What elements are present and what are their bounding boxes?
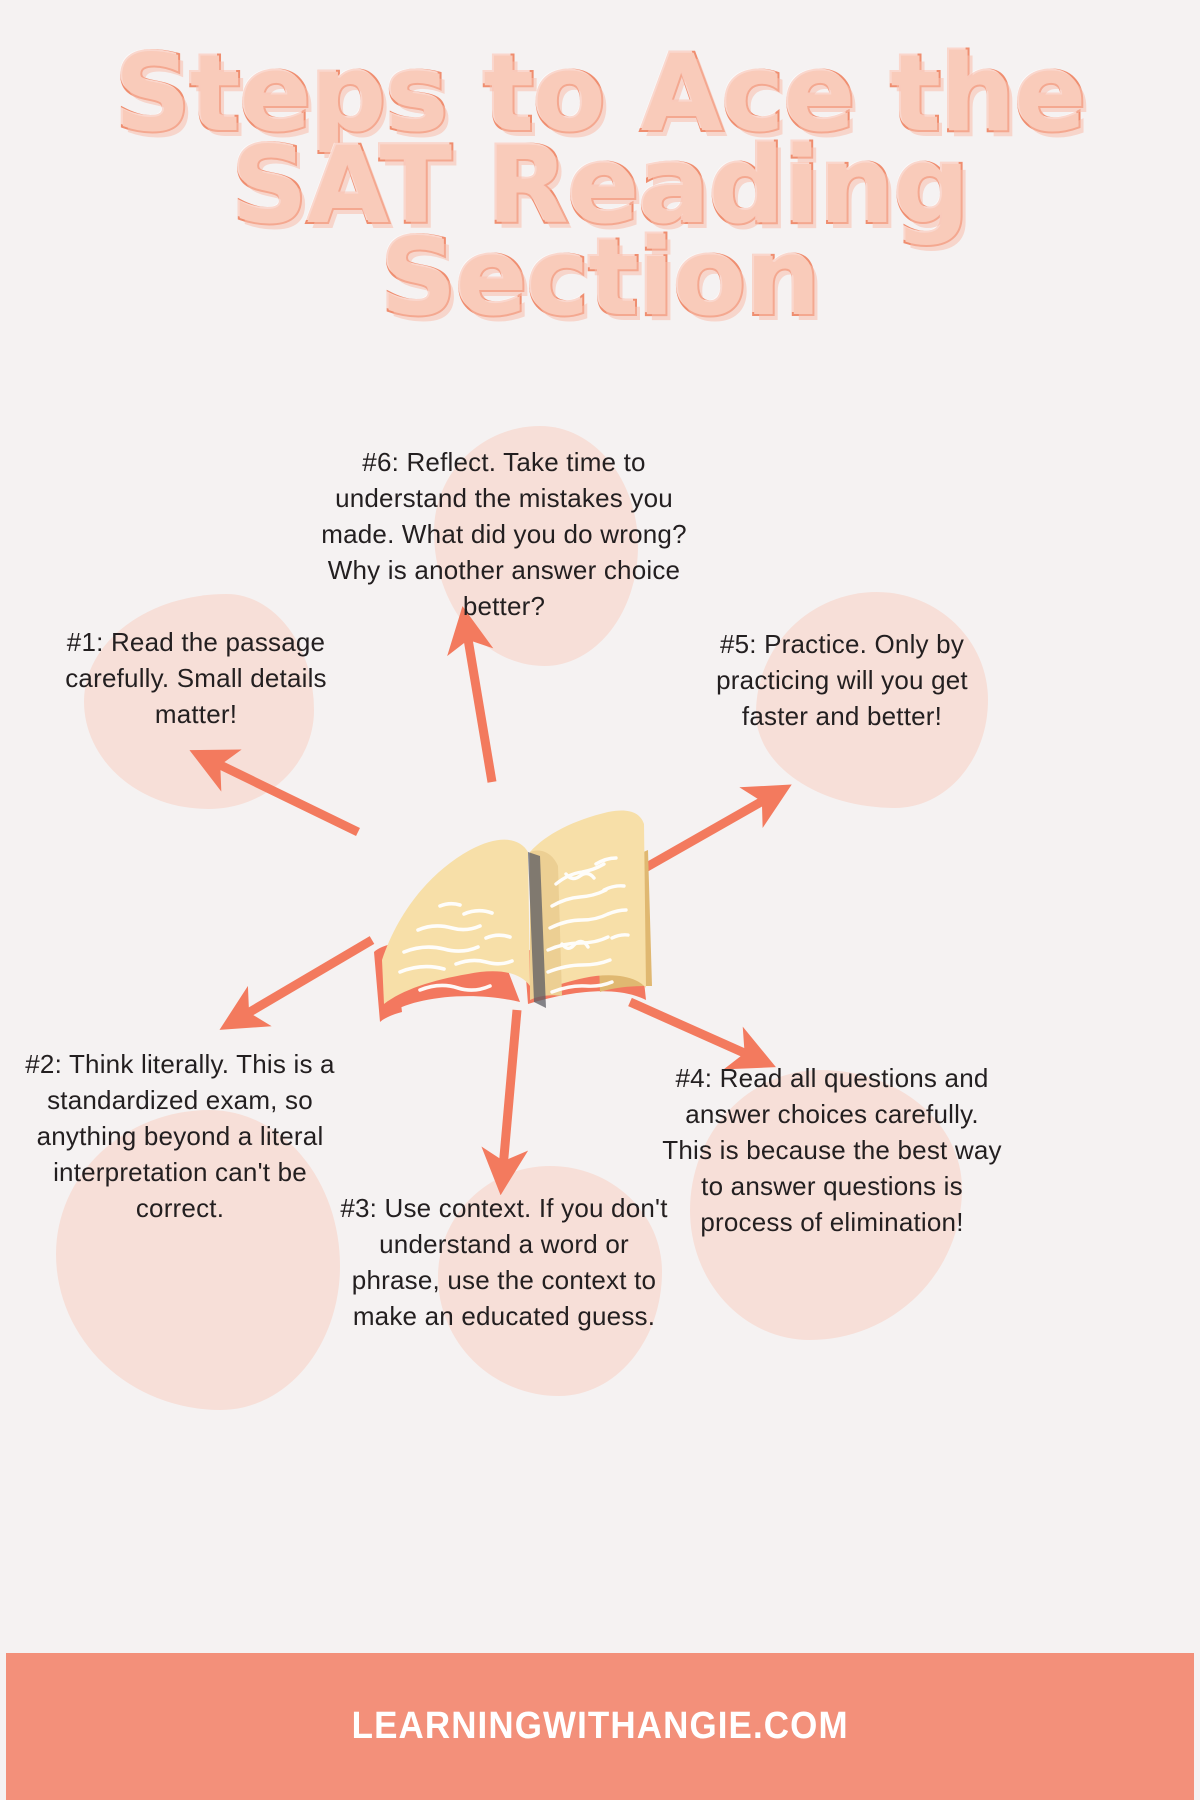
tip-text-3: #3: Use context. If you don't understand… — [336, 1190, 672, 1334]
footer-banner: LEARNINGWITHANGIE.COM — [6, 1653, 1194, 1800]
arrow-to-tip-2 — [243, 940, 372, 1016]
tip-text-2: #2: Think literally. This is a standardi… — [6, 1046, 354, 1226]
arrow-to-tip-5 — [638, 798, 768, 872]
arrow-to-tip-6 — [467, 633, 492, 782]
tip-text-6: #6: Reflect. Take time to understand the… — [320, 444, 688, 624]
arrow-to-tip-3 — [503, 1010, 517, 1168]
tip-text-4: #4: Read all questions and answer choice… — [662, 1060, 1002, 1240]
arrow-to-tip-4 — [630, 1002, 751, 1056]
tip-text-5: #5: Practice. Only by practicing will yo… — [686, 626, 998, 734]
diagram-art-layer — [0, 0, 1200, 1800]
arrow-to-tip-1 — [214, 762, 358, 832]
open-book-icon — [374, 811, 652, 1023]
infographic-poster: Steps to Ace the SAT Reading Section — [0, 0, 1200, 1800]
footer-website-url[interactable]: LEARNINGWITHANGIE.COM — [351, 1705, 848, 1748]
tip-text-1: #1: Read the passage carefully. Small de… — [46, 624, 346, 732]
